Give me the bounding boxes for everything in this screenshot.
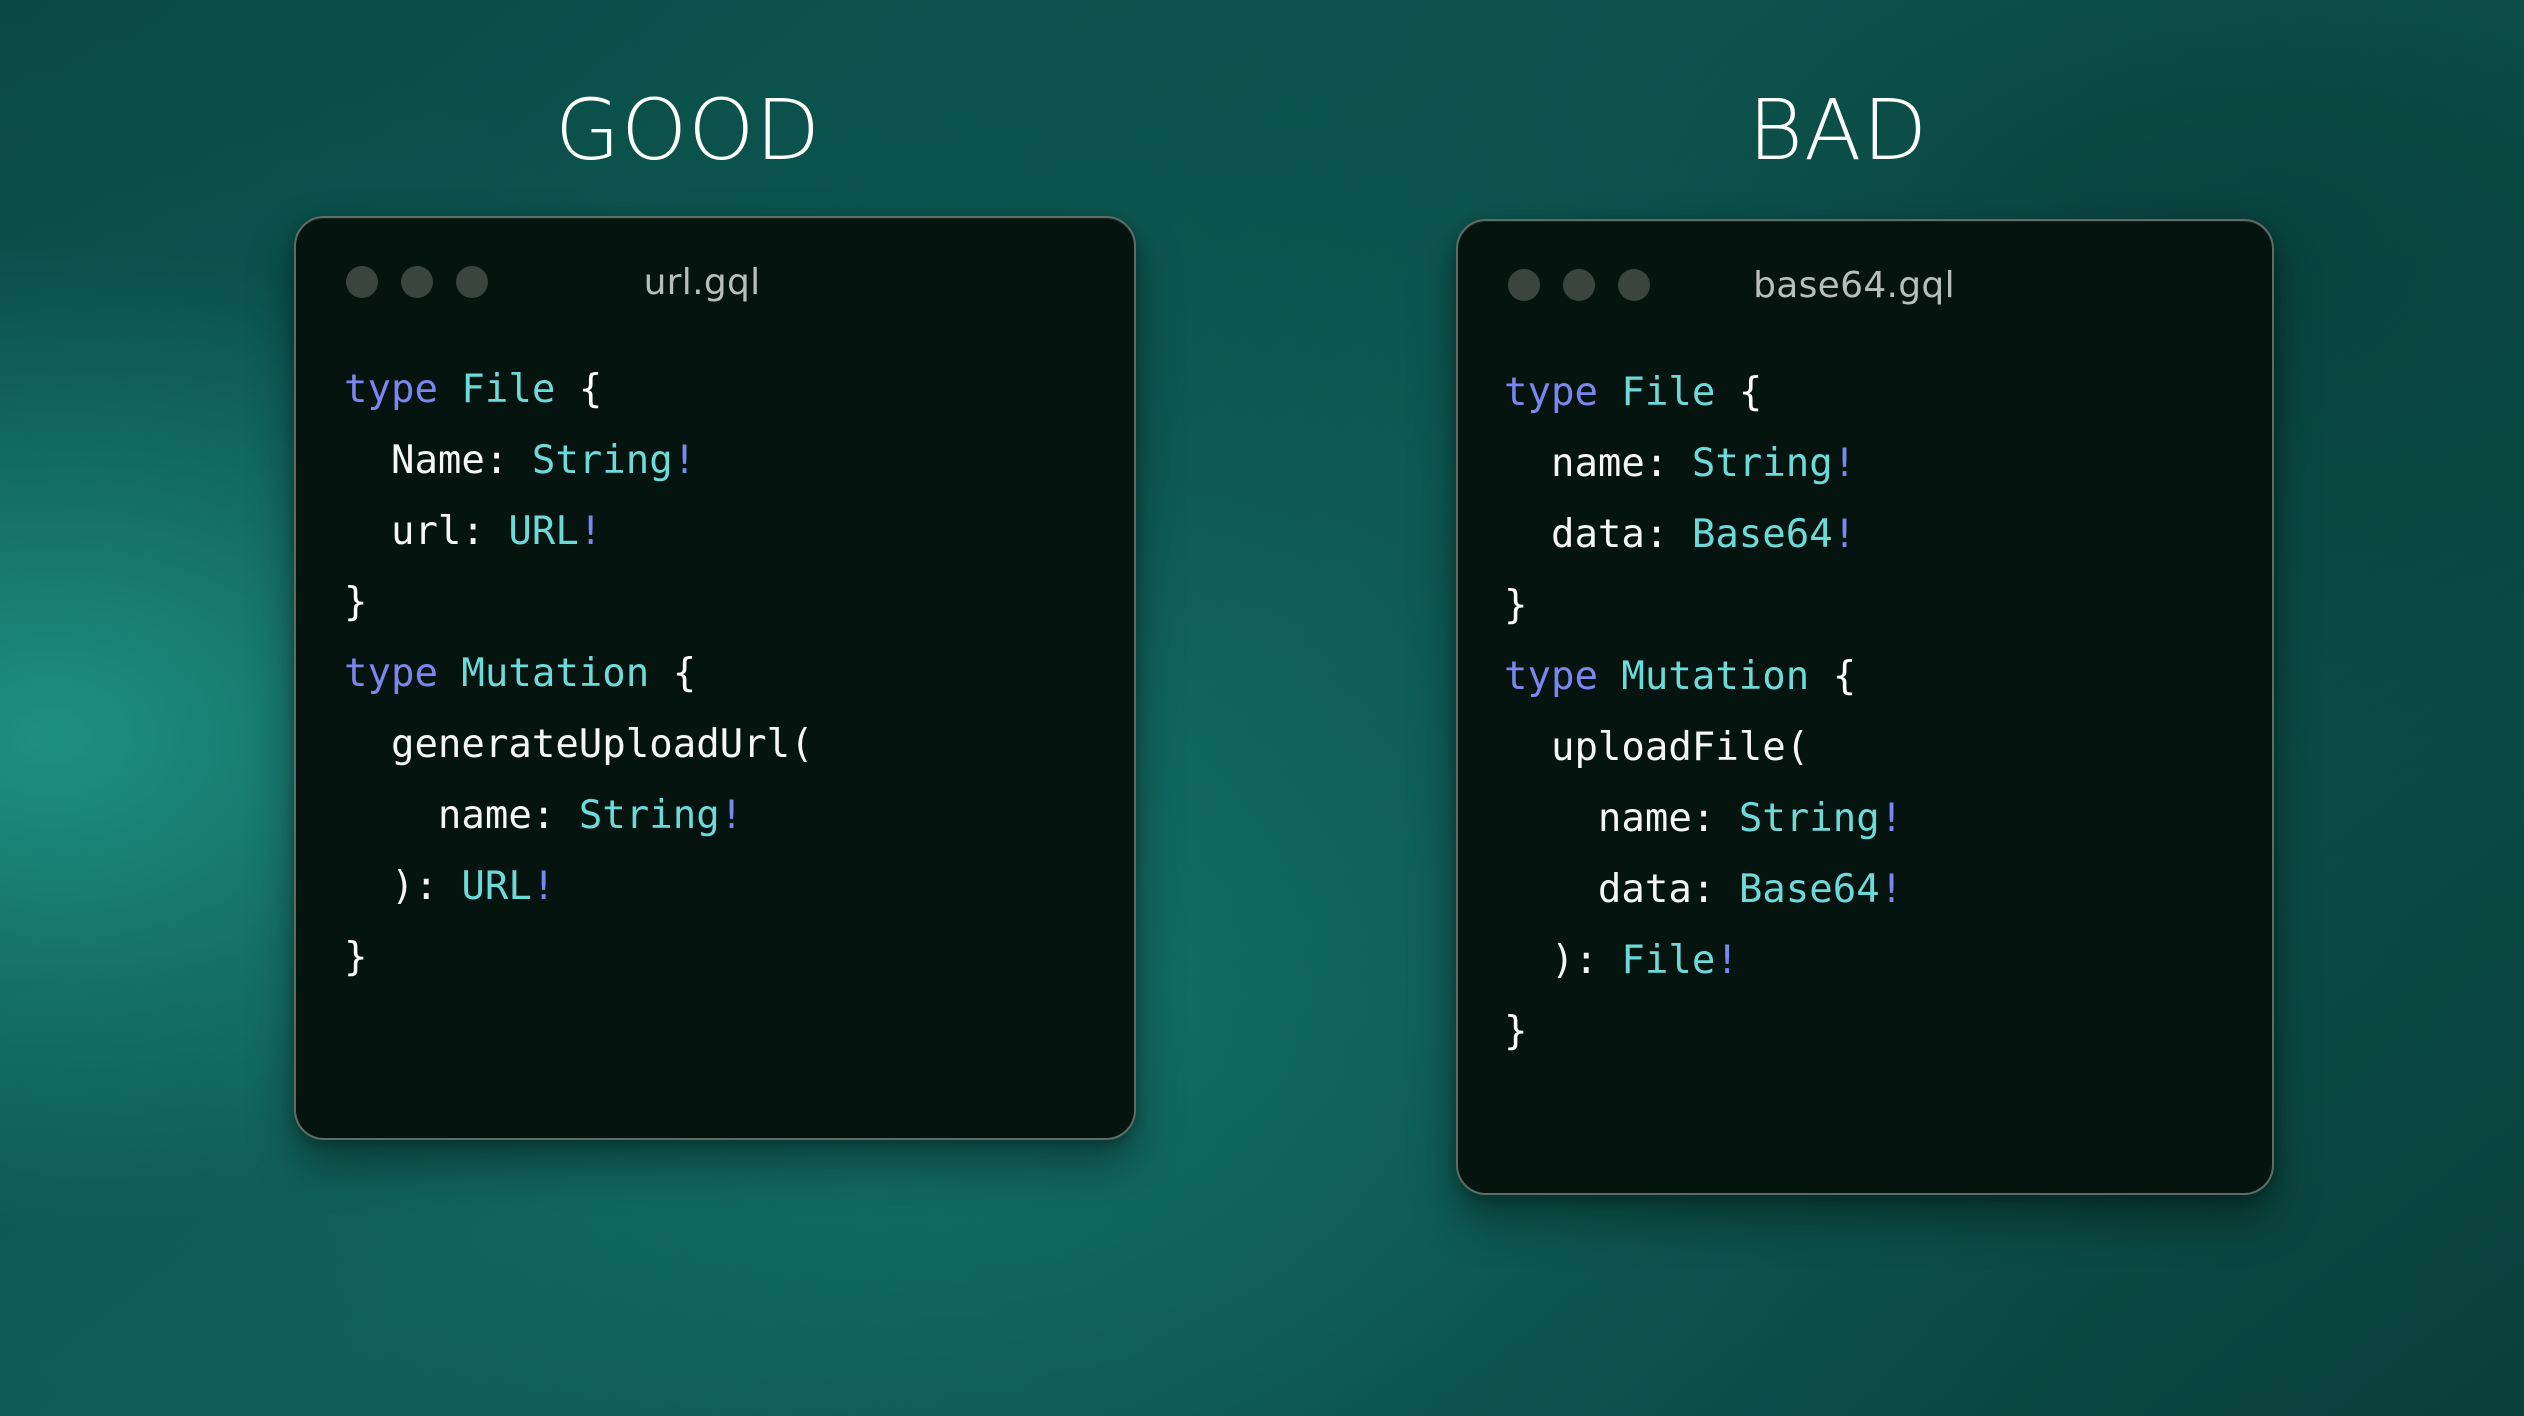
code-token: ! <box>579 509 602 554</box>
code-token: } <box>1504 1009 1527 1054</box>
code-token: name: <box>1504 441 1692 486</box>
code-line: name: String! <box>344 780 1134 851</box>
code-line: } <box>1504 996 2272 1067</box>
code-line: data: Base64! <box>1504 854 2272 925</box>
window-titlebar: base64.gql <box>1458 221 2272 325</box>
code-token: url: <box>344 509 508 554</box>
code-token: type <box>344 367 438 412</box>
code-token: { <box>1739 370 1762 415</box>
code-token: ! <box>1833 441 1856 486</box>
code-line: } <box>1504 570 2272 641</box>
code-line: Name: String! <box>344 425 1134 496</box>
code-token: ! <box>532 864 555 909</box>
code-line: ): File! <box>1504 925 2272 996</box>
code-token: ): <box>1504 938 1621 983</box>
code-line: name: String! <box>1504 783 2272 854</box>
code-token: String <box>532 438 673 483</box>
code-line: generateUploadUrl( <box>344 709 1134 780</box>
code-token <box>1598 654 1621 699</box>
code-token: type <box>1504 654 1598 699</box>
code-token: { <box>579 367 602 412</box>
code-line: type File { <box>344 354 1134 425</box>
code-token: ! <box>1880 796 1903 841</box>
code-window-good: url.gql type File { Name: String! url: U… <box>294 216 1136 1140</box>
code-token: String <box>1739 796 1880 841</box>
code-line: uploadFile( <box>1504 712 2272 783</box>
code-token: URL <box>508 509 578 554</box>
window-filename: url.gql <box>296 262 1134 303</box>
code-token: ! <box>1715 938 1738 983</box>
code-line: url: URL! <box>344 496 1134 567</box>
code-line: type Mutation { <box>1504 641 2272 712</box>
code-token: } <box>344 935 367 980</box>
code-line: } <box>344 567 1134 638</box>
code-block-bad: type File { name: String! data: Base64!}… <box>1458 325 2272 1067</box>
code-token: ! <box>673 438 696 483</box>
code-token: Base64 <box>1739 867 1880 912</box>
code-token: String <box>579 793 720 838</box>
code-token: type <box>344 651 438 696</box>
window-titlebar: url.gql <box>296 218 1134 322</box>
code-token <box>1598 370 1621 415</box>
code-token: type <box>1504 370 1598 415</box>
code-token: Base64 <box>1692 512 1833 557</box>
code-token: name: <box>1504 796 1739 841</box>
code-token: ! <box>1833 512 1856 557</box>
code-token: uploadFile( <box>1504 725 1809 770</box>
slide-canvas: GOOD url.gql type File { Name: String! u… <box>0 0 2524 1416</box>
code-token: Mutation <box>461 651 649 696</box>
code-token <box>649 651 672 696</box>
code-token: File <box>1621 370 1715 415</box>
code-token: Mutation <box>1621 654 1809 699</box>
code-token <box>555 367 578 412</box>
code-token <box>438 367 461 412</box>
code-token <box>438 651 461 696</box>
code-token: } <box>344 580 367 625</box>
code-token: String <box>1692 441 1833 486</box>
heading-bad: BAD <box>1748 88 1928 172</box>
code-token: generateUploadUrl( <box>344 722 814 767</box>
code-token: { <box>1833 654 1856 699</box>
code-token <box>1809 654 1832 699</box>
code-token: ): <box>344 864 461 909</box>
code-token: data: <box>1504 867 1739 912</box>
code-token: Name: <box>344 438 532 483</box>
code-token <box>1715 370 1738 415</box>
code-token: } <box>1504 583 1527 628</box>
code-line: type Mutation { <box>344 638 1134 709</box>
window-filename: base64.gql <box>1458 265 2272 306</box>
code-line: ): URL! <box>344 851 1134 922</box>
code-token: name: <box>344 793 579 838</box>
code-token: File <box>461 367 555 412</box>
code-token: data: <box>1504 512 1692 557</box>
code-line: } <box>344 922 1134 993</box>
code-token: File <box>1621 938 1715 983</box>
code-block-good: type File { Name: String! url: URL!}type… <box>296 322 1134 993</box>
heading-good: GOOD <box>555 88 821 172</box>
code-line: name: String! <box>1504 428 2272 499</box>
code-token: { <box>673 651 696 696</box>
code-token: URL <box>461 864 531 909</box>
code-token: ! <box>720 793 743 838</box>
code-line: data: Base64! <box>1504 499 2272 570</box>
code-window-bad: base64.gql type File { name: String! dat… <box>1456 219 2274 1195</box>
code-line: type File { <box>1504 357 2272 428</box>
code-token: ! <box>1880 867 1903 912</box>
